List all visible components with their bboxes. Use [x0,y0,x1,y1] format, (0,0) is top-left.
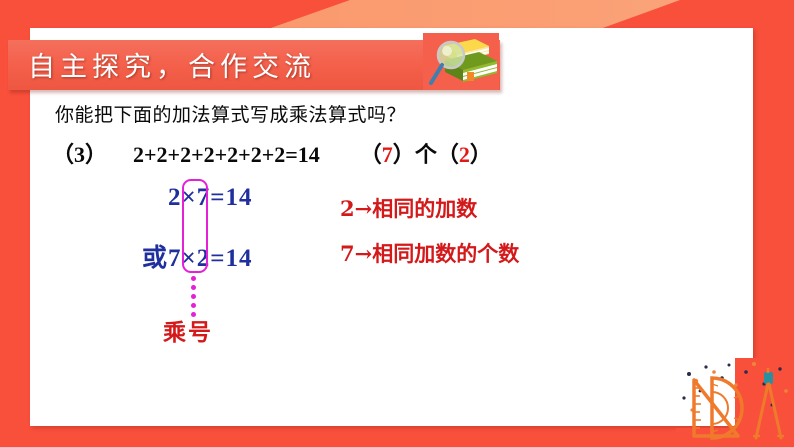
multiplication-line-1: 2×7=14 [168,184,253,212]
problem-addition: 2+2+2+2+2+2+2=14 [133,142,320,167]
slide-canvas: 自主探究，合作交流 你能把下面的加法算式写成乘法算式吗？ （3）2+2+2 [0,0,794,447]
annotation-same-addend: 2→相同的加数 [340,193,477,223]
addend-value: 2 [459,142,470,167]
callout-dotted-line [191,276,196,318]
paren-open-1: （ [360,142,382,167]
multiplication-sign-highlight-box [182,179,208,273]
problem-number: （3） [52,142,107,167]
unit-label: 个 [415,142,437,167]
multiplication-sign-label: 乘号 [163,313,213,347]
question-text: 你能把下面的加法算式写成乘法算式吗？ [55,100,406,127]
count-value: 7 [382,142,393,167]
paren-close-2: ） [470,142,492,167]
paren-close-1: ） [393,142,415,167]
books-magnifier-icon [423,33,505,93]
paren-open-2: （ [437,142,459,167]
page-title: 自主探究，合作交流 [28,45,316,84]
problem-line: （3）2+2+2+2+2+2+2=14（7）个（2） [52,137,492,169]
right-red-strip [753,0,794,130]
annotation-addend-count: 7→相同加数的个数 [340,238,519,268]
